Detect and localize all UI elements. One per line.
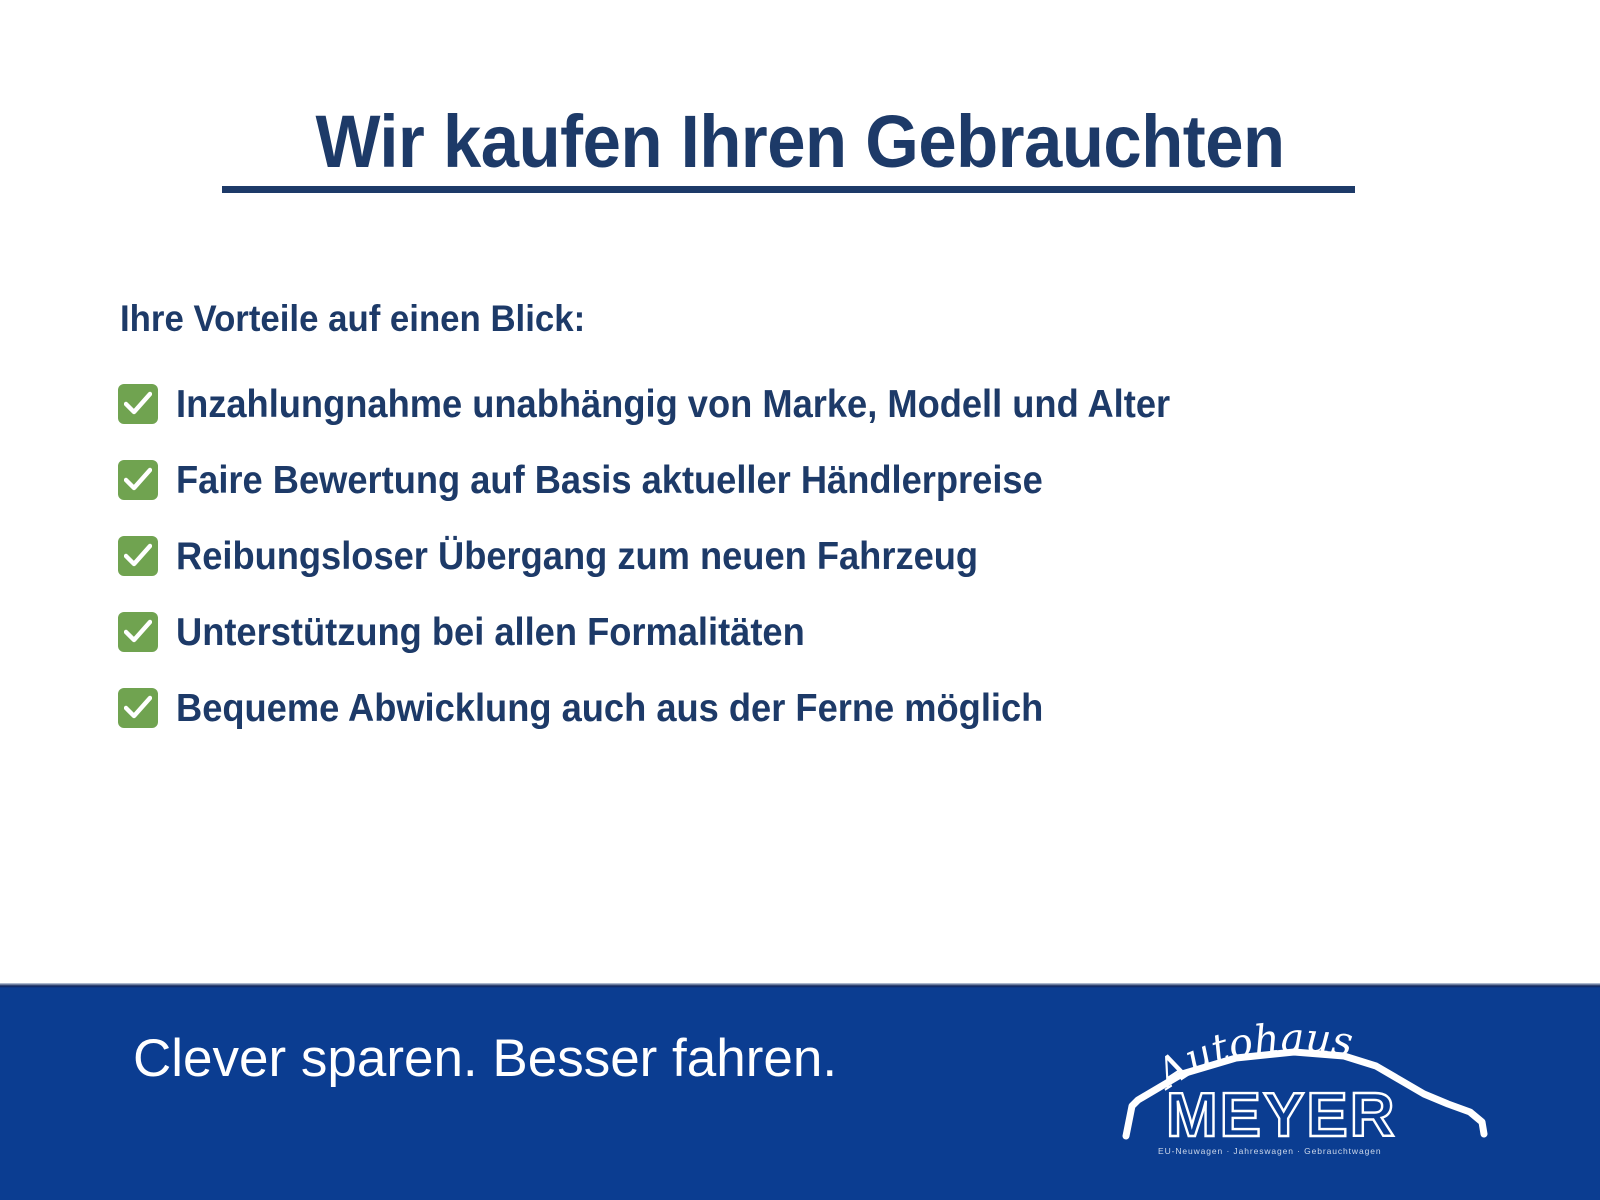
check-box-icon [118, 460, 158, 500]
check-box-icon [118, 688, 158, 728]
list-item: Faire Bewertung auf Basis aktueller Händ… [118, 452, 1518, 508]
list-item: Bequeme Abwicklung auch aus der Ferne mö… [118, 680, 1518, 736]
benefits-list: Inzahlungnahme unabhängig von Marke, Mod… [118, 376, 1518, 756]
list-item-label: Bequeme Abwicklung auch aus der Ferne mö… [176, 689, 1043, 728]
list-item: Unterstützung bei allen Formalitäten [118, 604, 1518, 660]
list-item-label: Unterstützung bei allen Formalitäten [176, 613, 805, 652]
check-box-icon [118, 612, 158, 652]
list-item: Inzahlungnahme unabhängig von Marke, Mod… [118, 376, 1518, 432]
list-item: Reibungsloser Übergang zum neuen Fahrzeu… [118, 528, 1518, 584]
page-title: Wir kaufen Ihren Gebrauchten [315, 104, 1284, 193]
dealer-logo: Autohaus MEYER EU-Neuwagen · Jahreswagen… [1118, 1008, 1490, 1160]
benefits-intro-label: Ihre Vorteile auf einen Blick: [120, 300, 585, 337]
check-box-icon [118, 384, 158, 424]
page-title-container: Wir kaufen Ihren Gebrauchten [0, 104, 1600, 193]
advertisement-page: Wir kaufen Ihren Gebrauchten Ihre Vortei… [0, 0, 1600, 1200]
list-item-label: Faire Bewertung auf Basis aktueller Händ… [176, 461, 1043, 500]
list-item-label: Inzahlungnahme unabhängig von Marke, Mod… [176, 385, 1170, 424]
logo-tagline: EU-Neuwagen · Jahreswagen · Gebrauchtwag… [1158, 1146, 1381, 1156]
logo-brand-word: MEYER [1166, 1081, 1396, 1150]
list-item-label: Reibungsloser Übergang zum neuen Fahrzeu… [176, 537, 978, 576]
footer-slogan: Clever sparen. Besser fahren. [133, 1032, 837, 1085]
check-box-icon [118, 536, 158, 576]
title-underline-rule [222, 186, 1355, 193]
